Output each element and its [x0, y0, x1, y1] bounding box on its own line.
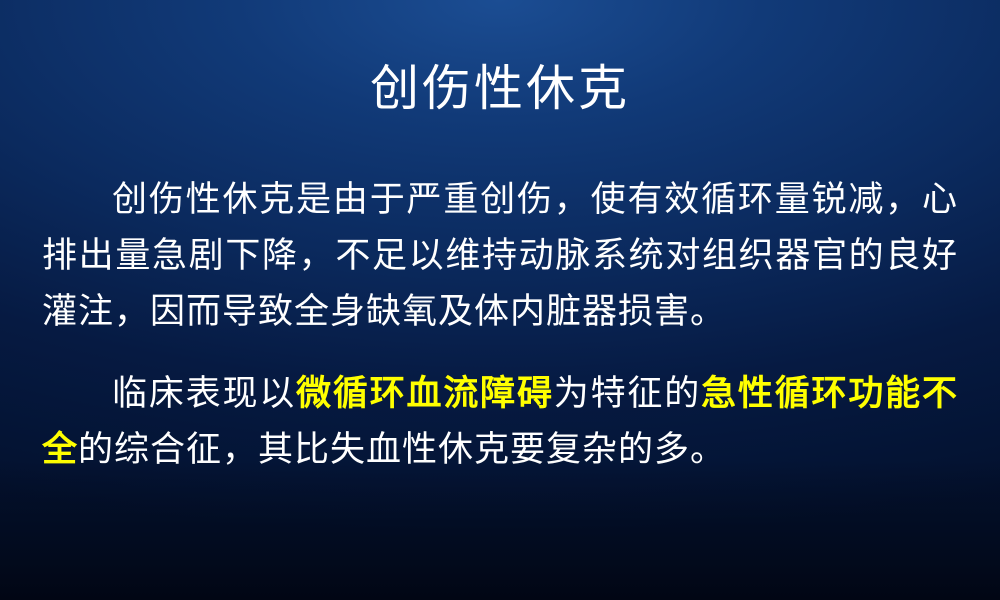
clinical-text-tail: 的综合征，其比失血性休克要复杂的多。: [78, 430, 726, 470]
paragraph-clinical: 临床表现以微循环血流障碍为特征的急性循环功能不全的综合征，其比失血性休克要复杂的…: [42, 366, 958, 478]
paragraph-definition: 创伤性休克是由于严重创伤，使有效循环量锐减，心排出量急剧下降，不足以维持动脉系统…: [42, 172, 958, 340]
slide-canvas: 创伤性休克 创伤性休克是由于严重创伤，使有效循环量锐减，心排出量急剧下降，不足以…: [0, 0, 1000, 600]
highlight-microcirculation: 微循环血流障碍: [296, 374, 554, 414]
slide-title: 创伤性休克: [0, 62, 1000, 116]
clinical-text-lead: 临床表现以: [112, 374, 296, 414]
slide-body: 创伤性休克是由于严重创伤，使有效循环量锐减，心排出量急剧下降，不足以维持动脉系统…: [42, 172, 958, 478]
clinical-text-mid: 为特征的: [554, 374, 701, 414]
definition-text: 创伤性休克是由于严重创伤，使有效循环量锐减，心排出量急剧下降，不足以维持动脉系统…: [42, 180, 958, 332]
